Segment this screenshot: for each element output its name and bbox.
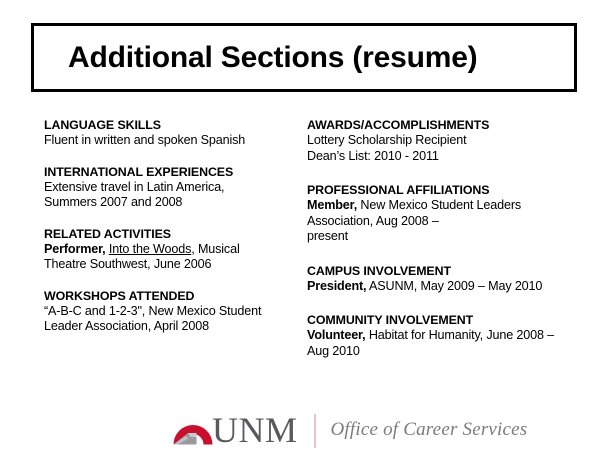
section-line-text: Lottery Scholarship Recipient (307, 133, 466, 147)
section-heading: WORKSHOPS ATTENDED (44, 289, 294, 304)
slide-title-box: Additional Sections (resume) (31, 23, 577, 92)
section-line-text: Theatre Southwest, June 2006 (44, 257, 211, 271)
section-line: Fluent in written and spoken Spanish (44, 133, 294, 149)
section-line: “A-B-C and 1-2-3", New Mexico Student (44, 304, 294, 320)
section-line: Aug 2010 (307, 344, 592, 360)
section-line-text: “A-B-C and 1-2-3", New Mexico Student (44, 304, 261, 318)
resume-section: RELATED ACTIVITIESPerformer, Into the Wo… (44, 227, 294, 273)
section-line-text: Aug 2010 (307, 344, 360, 358)
section-heading: RELATED ACTIVITIES (44, 227, 294, 242)
unm-wordmark: UNM (212, 412, 298, 451)
section-line-text: Leader Association, April 2008 (44, 319, 209, 333)
resume-section: COMMUNITY INVOLVEMENTVolunteer, Habitat … (307, 313, 592, 359)
section-line: Volunteer, Habitat for Humanity, June 20… (307, 328, 592, 344)
logo-divider (314, 414, 316, 448)
section-line: Extensive travel in Latin America, (44, 180, 294, 196)
section-line-lead: Member, (307, 198, 357, 212)
section-line-text: present (307, 229, 348, 243)
resume-section: LANGUAGE SKILLSFluent in written and spo… (44, 118, 294, 149)
resume-section: INTERNATIONAL EXPERIENCESExtensive trave… (44, 165, 294, 211)
unm-lobo-arc-logo-icon (172, 411, 214, 451)
section-line-lead: Performer, (44, 242, 106, 256)
section-line-text: Dean’s List: 2010 - 2011 (307, 149, 439, 163)
section-line-text: New Mexico Student Leaders (360, 198, 521, 212)
section-line: Member, New Mexico Student Leaders (307, 198, 592, 214)
section-line: Performer, Into the Woods, Musical (44, 242, 294, 258)
logo-tagline: Office of Career Services (331, 419, 528, 443)
section-line-text: Habitat for Humanity, June 2008 – (369, 328, 554, 342)
section-line-text: Fluent in written and spoken Spanish (44, 133, 245, 147)
section-line: Theatre Southwest, June 2006 (44, 257, 294, 273)
resume-section: PROFESSIONAL AFFILIATIONSMember, New Mex… (307, 183, 592, 245)
resume-section: WORKSHOPS ATTENDED“A-B-C and 1-2-3", New… (44, 289, 294, 335)
unm-office-of-career-services-logo: UNM Office of Career Services (172, 409, 527, 453)
section-line-lead: President, (307, 279, 366, 293)
section-line: Leader Association, April 2008 (44, 319, 294, 335)
section-line-underlined: Into the Woods (109, 242, 191, 256)
section-line: President, ASUNM, May 2009 – May 2010 (307, 279, 592, 295)
section-heading: COMMUNITY INVOLVEMENT (307, 313, 592, 328)
right-column: AWARDS/ACCOMPLISHMENTSLottery Scholarshi… (307, 118, 592, 378)
page-title: Additional Sections (resume) (68, 39, 477, 77)
section-line-text: , Musical (191, 242, 239, 256)
section-heading: INTERNATIONAL EXPERIENCES (44, 165, 294, 180)
resume-section: AWARDS/ACCOMPLISHMENTSLottery Scholarshi… (307, 118, 592, 164)
section-line: Summers 2007 and 2008 (44, 195, 294, 211)
section-line: present (307, 229, 592, 245)
section-line-text: Summers 2007 and 2008 (44, 195, 182, 209)
section-line-text: ASUNM, May 2009 – May 2010 (369, 279, 542, 293)
section-heading: PROFESSIONAL AFFILIATIONS (307, 183, 592, 198)
section-line: Association, Aug 2008 – (307, 214, 592, 230)
section-line: Lottery Scholarship Recipient (307, 133, 592, 149)
resume-section: CAMPUS INVOLVEMENTPresident, ASUNM, May … (307, 264, 592, 295)
section-line-text: Extensive travel in Latin America, (44, 180, 224, 194)
section-line-text: Association, Aug 2008 – (307, 214, 439, 228)
section-heading: LANGUAGE SKILLS (44, 118, 294, 133)
section-heading: CAMPUS INVOLVEMENT (307, 264, 592, 279)
section-heading: AWARDS/ACCOMPLISHMENTS (307, 118, 592, 133)
section-line-lead: Volunteer, (307, 328, 365, 342)
left-column: LANGUAGE SKILLSFluent in written and spo… (44, 118, 294, 351)
section-line: Dean’s List: 2010 - 2011 (307, 149, 592, 165)
